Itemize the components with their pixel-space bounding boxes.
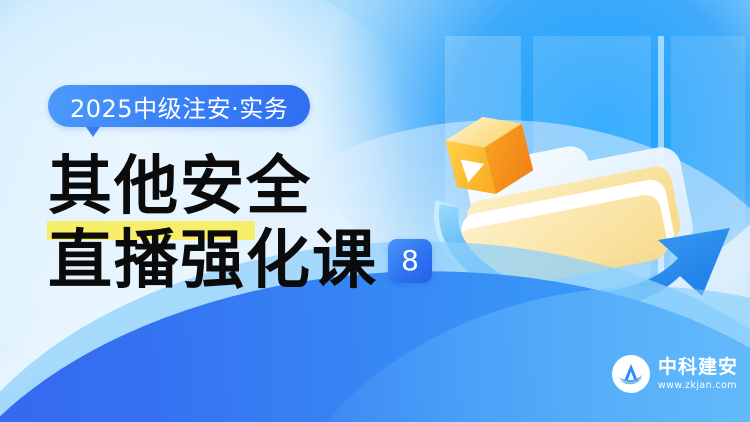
logo-mark: [612, 355, 650, 393]
page-title: 其他安全 直播强化课 8: [48, 150, 432, 298]
course-banner: 2025中级注安·实务 其他安全 直播强化课 8 中科建安 www.zkjan.…: [0, 0, 750, 422]
headline-line-2: 直播强化课: [48, 224, 378, 298]
headline-line-1: 其他安全: [48, 150, 432, 224]
logo-company-name: 中科建安: [658, 358, 738, 377]
logo-website-url: www.zkjan.com: [658, 381, 738, 391]
episode-number-badge: 8: [388, 239, 432, 283]
logo-text-group: 中科建安 www.zkjan.com: [658, 358, 738, 391]
brand-logo: 中科建安 www.zkjan.com: [612, 355, 738, 393]
course-tag-badge: 2025中级注安·实务: [48, 85, 310, 127]
mountain-swoosh-icon: [616, 359, 646, 389]
content-layer: 2025中级注安·实务 其他安全 直播强化课 8 中科建安 www.zkjan.…: [0, 0, 750, 422]
course-tag-label: 2025中级注安·实务: [70, 89, 288, 124]
headline-line-2-row: 直播强化课 8: [48, 224, 432, 298]
